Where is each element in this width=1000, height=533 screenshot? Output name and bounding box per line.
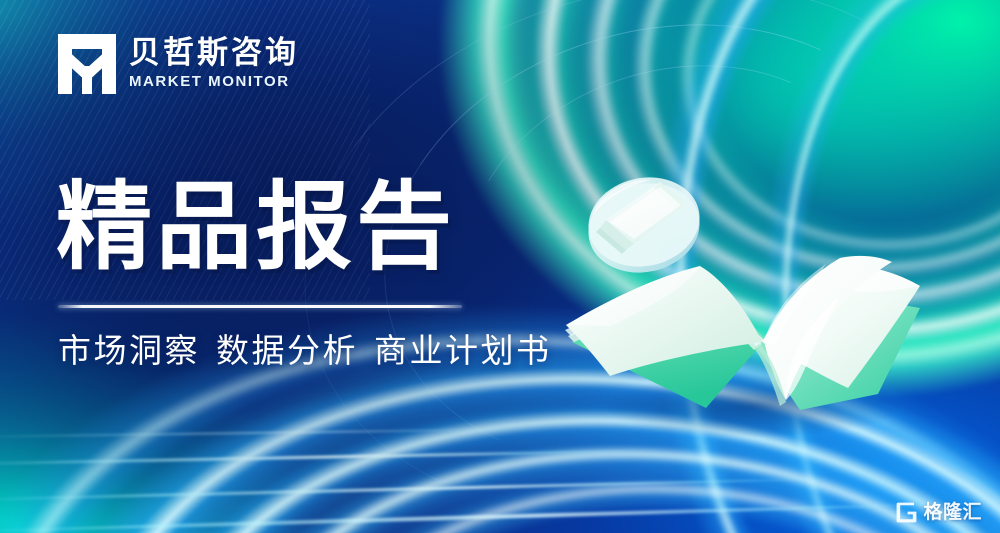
report-cover-banner: 贝哲斯咨询 MARKET MONITOR 精品报告 市场洞察数据分析商业计划书 … bbox=[0, 0, 1000, 533]
market-monitor-m-mark-icon bbox=[58, 34, 116, 94]
title-divider bbox=[58, 305, 462, 308]
open-book-illustration bbox=[548, 160, 948, 440]
watermark: 格隆汇 bbox=[896, 502, 982, 523]
subtitle-item-2: 商业计划书 bbox=[374, 332, 552, 369]
gelonghui-g-logo-icon bbox=[896, 502, 917, 523]
watermark-text: 格隆汇 bbox=[923, 503, 982, 522]
subtitle-list: 市场洞察数据分析商业计划书 bbox=[58, 330, 552, 371]
subtitle-item-0: 市场洞察 bbox=[58, 332, 200, 369]
brand-name-cn: 贝哲斯咨询 bbox=[129, 36, 299, 69]
brand-name-en: MARKET MONITOR bbox=[129, 73, 299, 92]
brand-logo-text: 贝哲斯咨询 MARKET MONITOR bbox=[129, 36, 299, 92]
subtitle-item-1: 数据分析 bbox=[216, 332, 358, 369]
brand-logo: 贝哲斯咨询 MARKET MONITOR bbox=[58, 34, 299, 94]
page-title: 精品报告 bbox=[56, 176, 456, 280]
